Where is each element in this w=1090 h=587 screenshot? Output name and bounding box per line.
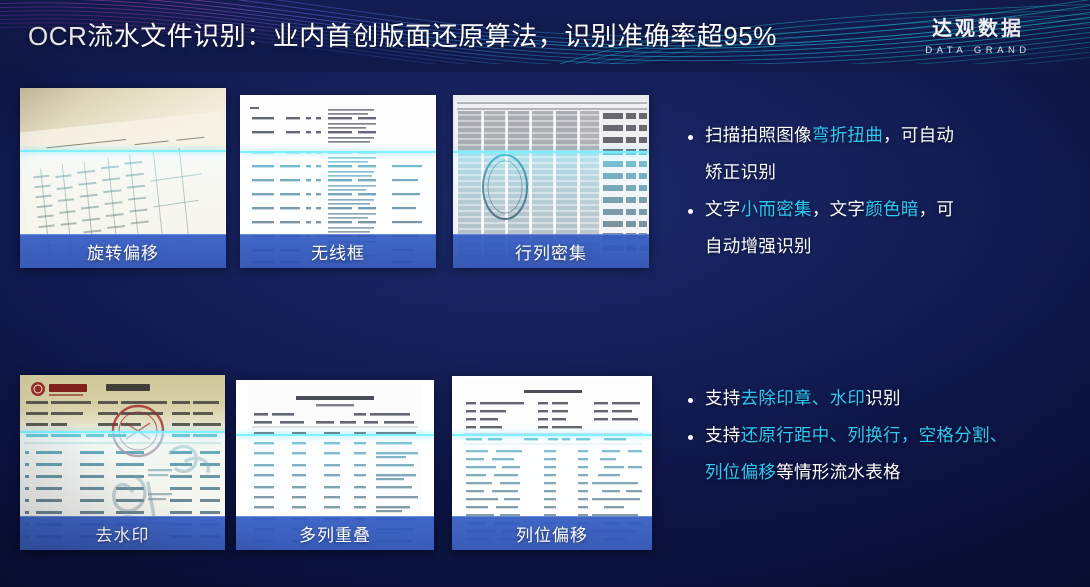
bullet-text: 识别 bbox=[865, 389, 901, 409]
bullet-text: 自动增强识别 bbox=[705, 237, 812, 257]
bullet-text: 文字 bbox=[705, 200, 741, 220]
page-title: OCR流水文件识别：业内首创版面还原算法，识别准确率超95% bbox=[28, 16, 777, 53]
card-caption: 行列密集 bbox=[453, 234, 649, 268]
sample-card-columnshift[interactable]: 列位偏移 bbox=[452, 376, 652, 550]
card-caption: 去水印 bbox=[20, 516, 225, 550]
highlight-text: 弯折扭曲 bbox=[812, 126, 883, 146]
highlight-text: 小而密集 bbox=[741, 200, 812, 220]
highlight-text: 列位偏移 bbox=[705, 463, 776, 483]
bullet-text: 矫正识别 bbox=[705, 163, 776, 183]
feature-bullet: 扫描拍照图像弯折扭曲，可自动 bbox=[686, 120, 1066, 153]
feature-bullet: 支持去除印章、水印识别 bbox=[686, 383, 1066, 416]
document-title-line bbox=[524, 390, 582, 393]
feature-bullet-continuation: 自动增强识别 bbox=[686, 231, 1066, 264]
highlight-text: 还原行距中、列换行，空格分割、 bbox=[741, 426, 1008, 446]
brand-logo: 达观数据 DATA GRAND bbox=[888, 12, 1068, 56]
feature-list-top: 扫描拍照图像弯折扭曲，可自动矫正识别文字小而密集，文字颜色暗，可自动增强识别 bbox=[686, 120, 1066, 268]
bank-logo-mark bbox=[31, 382, 45, 396]
card-caption: 无线框 bbox=[240, 234, 436, 268]
highlight-text: 去除印章、水印 bbox=[741, 389, 866, 409]
logo-text-cn: 达观数据 bbox=[888, 12, 1068, 41]
bullet-text: ，文字 bbox=[812, 200, 865, 220]
slide-header: OCR流水文件识别：业内首创版面还原算法，识别准确率超95% 达观数据 DATA… bbox=[0, 0, 1090, 72]
bullet-text: 等情形流水表格 bbox=[776, 463, 901, 483]
feature-bullet-continuation: 矫正识别 bbox=[686, 157, 1066, 190]
bullet-text: 扫描拍照图像 bbox=[705, 126, 812, 146]
sample-card-multicolumn[interactable]: 多列重叠 bbox=[236, 380, 434, 550]
feature-list-bottom: 支持去除印章、水印识别支持还原行距中、列换行，空格分割、列位偏移等情形流水表格 bbox=[686, 383, 1066, 494]
logo-text-en: DATA GRAND bbox=[888, 45, 1068, 56]
bullet-text: 支持 bbox=[705, 389, 741, 409]
feature-bullet-continuation: 列位偏移等情形流水表格 bbox=[686, 457, 1066, 490]
sample-card-watermark[interactable]: 去水印 bbox=[20, 375, 225, 550]
feature-bullet: 支持还原行距中、列换行，空格分割、 bbox=[686, 420, 1066, 453]
feature-bullet: 文字小而密集，文字颜色暗，可 bbox=[686, 194, 1066, 227]
document-title-line bbox=[296, 396, 374, 400]
sample-card-dense[interactable]: 行列密集 bbox=[453, 95, 649, 268]
highlight-text: 颜色暗 bbox=[865, 200, 918, 220]
card-caption: 多列重叠 bbox=[236, 516, 434, 550]
bullet-text: ，可自动 bbox=[883, 126, 954, 146]
bullet-text: 支持 bbox=[705, 426, 741, 446]
bullet-text: ，可 bbox=[919, 200, 955, 220]
card-caption: 列位偏移 bbox=[452, 516, 652, 550]
card-caption: 旋转偏移 bbox=[20, 234, 226, 268]
sample-card-borderless[interactable]: 无线框 bbox=[240, 95, 436, 268]
sample-card-rotated[interactable]: 旋转偏移 bbox=[20, 88, 226, 268]
